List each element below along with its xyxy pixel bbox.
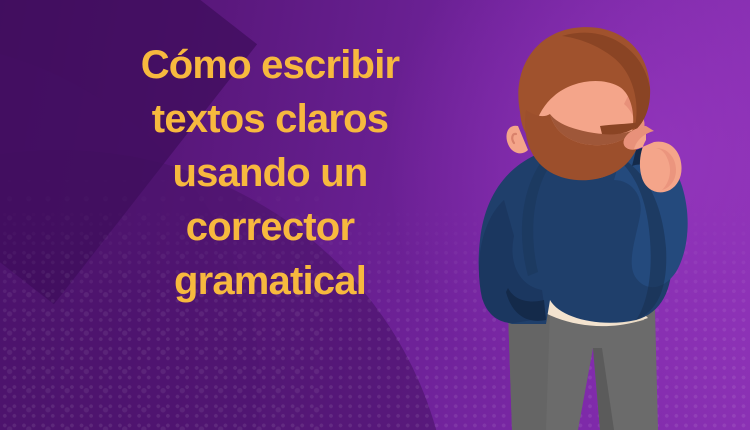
pants-group	[508, 310, 658, 430]
head-group	[506, 27, 650, 180]
promo-banner: Cómo escribir textos claros usando un co…	[0, 0, 750, 430]
headline-line-3: usando un	[14, 146, 526, 200]
headline-line-4: corrector	[14, 200, 526, 254]
headline: Cómo escribir textos claros usando un co…	[14, 38, 526, 308]
headline-line-2: textos claros	[14, 92, 526, 146]
headline-line-1: Cómo escribir	[14, 38, 526, 92]
headline-line-5: gramatical	[14, 254, 526, 308]
